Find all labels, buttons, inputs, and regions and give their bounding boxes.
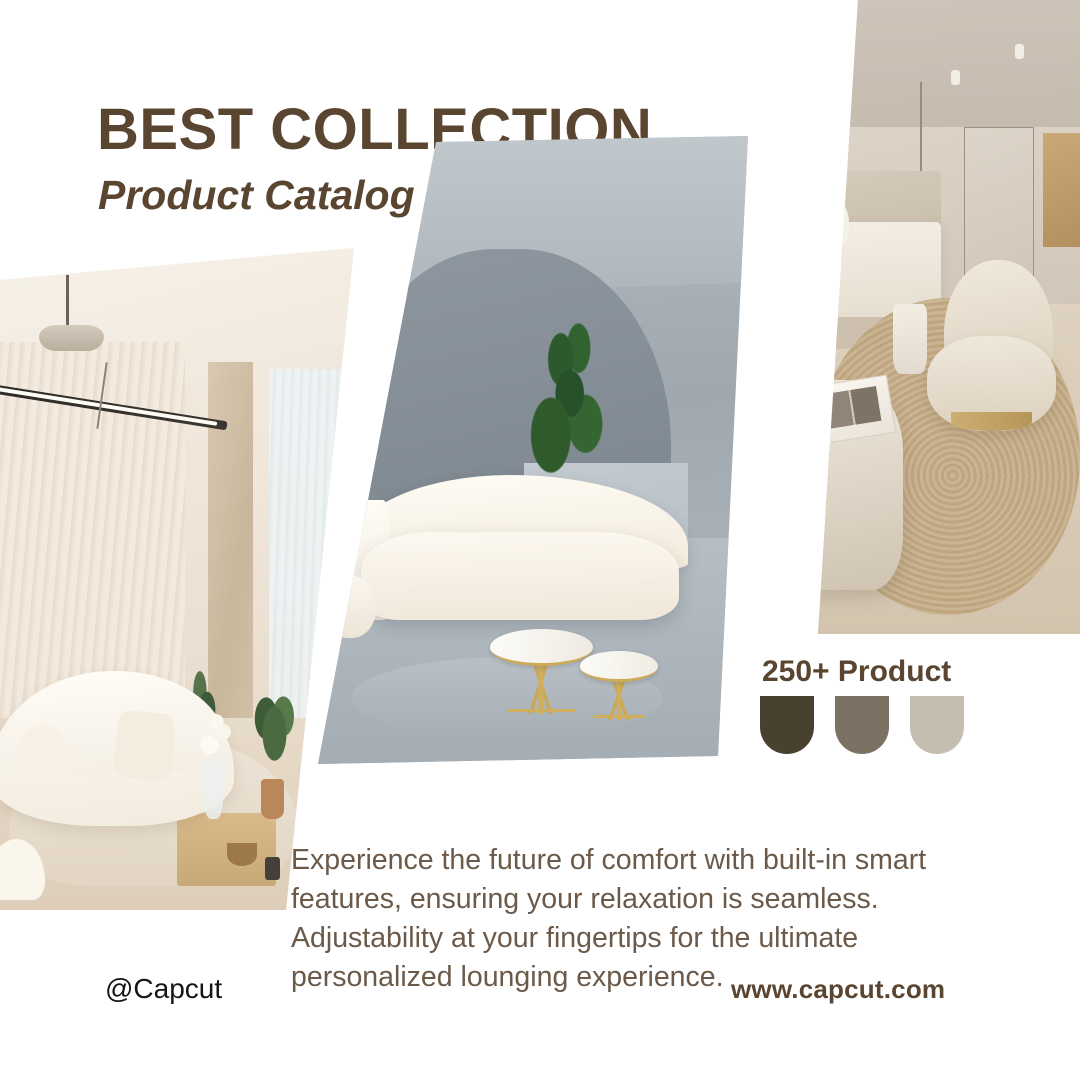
bed-pillow (774, 197, 849, 248)
ceiling-spotlight-one (951, 70, 960, 85)
glass-vase (204, 759, 223, 819)
leafy-plant (512, 299, 624, 487)
center-scene (318, 136, 748, 764)
color-swatch-taupe[interactable] (835, 696, 889, 754)
large-marble-table-top (490, 629, 593, 666)
secondary-rug (740, 304, 822, 469)
gallery-photo-center (318, 136, 748, 764)
page-subtitle: Product Catalog (98, 173, 415, 218)
round-pouf (324, 576, 376, 639)
pendant-rod (66, 275, 69, 329)
small-marble-table-top (580, 651, 657, 682)
large-table-base (507, 709, 576, 712)
pendant-lamp (39, 325, 104, 351)
social-handle: @Capcut (105, 973, 222, 1005)
right-scene (740, 0, 1080, 634)
plant-pot (261, 779, 284, 819)
gallery-photo-left (0, 248, 368, 920)
poster-canvas: BEST COLLECTION Product Catalog (0, 0, 1080, 1080)
potted-plant-right (250, 678, 300, 779)
website-url[interactable]: www.capcut.com (731, 974, 945, 1005)
color-swatch-dark-brown[interactable] (760, 696, 814, 754)
ceramic-vase (788, 361, 812, 431)
color-swatch-group (760, 696, 964, 754)
sofa-pillow-right (113, 709, 176, 781)
sofa-seat (361, 532, 679, 620)
wall-art (1043, 133, 1080, 247)
ceiling-spotlight-two (1015, 44, 1024, 59)
gallery-photo-right (740, 0, 1080, 634)
color-swatch-light-beige[interactable] (910, 696, 964, 754)
product-count-label: 250+ Product (762, 655, 951, 689)
small-table-base (593, 715, 645, 718)
dried-branch (794, 298, 835, 374)
side-stool (893, 304, 927, 374)
dark-jar (265, 857, 280, 880)
left-scene (0, 248, 368, 920)
